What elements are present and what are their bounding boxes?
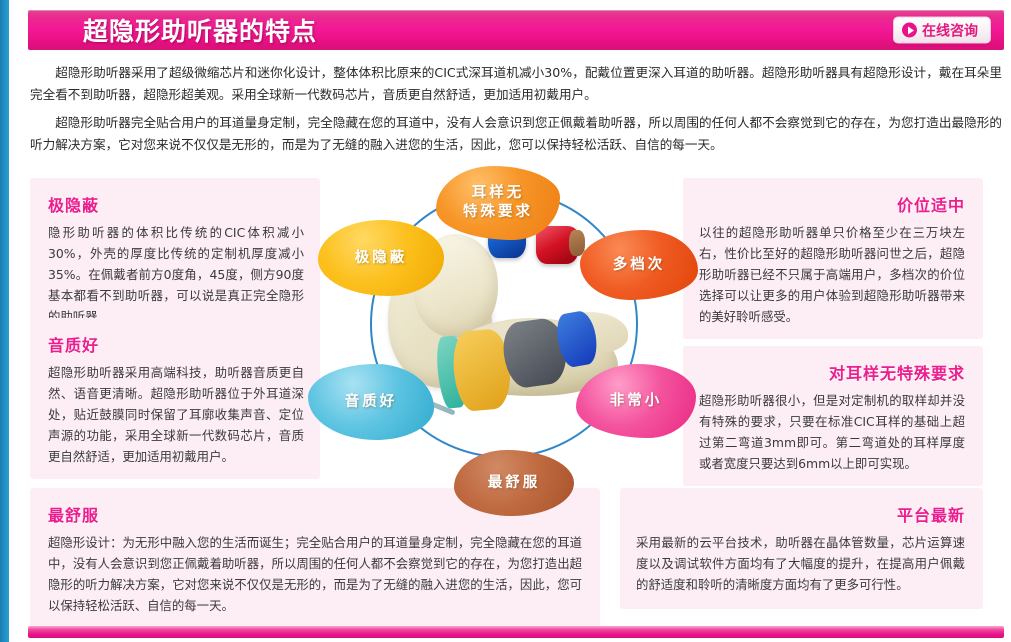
diagram-blob-ear-sample[interactable]: 耳样无 特殊要求 xyxy=(436,166,560,240)
page-footer-bar xyxy=(28,626,1004,638)
feature-card-jiawei-body: 以往的超隐形助听器单只价格至少在三万块左右，性价比至好的超隐形助听器问世之后，超… xyxy=(699,222,965,327)
diagram-blob-ear-sample-line2: 特殊要求 xyxy=(463,203,533,222)
online-consult-button[interactable]: 在线咨询 xyxy=(893,17,991,44)
play-circle-icon xyxy=(902,23,917,38)
feature-card-erayang-title: 对耳样无特殊要求 xyxy=(699,360,965,384)
diagram-blob-very-small-label: 非常小 xyxy=(610,392,663,411)
page-header-bar: 超隐形助听器的特点 在线咨询 xyxy=(28,10,1004,50)
intro-section: 超隐形助听器采用了超级微缩芯片和迷你化设计，整体体积比原来的CIC式深耳道机减小… xyxy=(30,62,1002,162)
diagram-blob-most-comfortable[interactable]: 最舒服 xyxy=(454,450,574,516)
feature-card-jiyinbi: 极隐蔽 隐形助听器的体积比传统的CIC体积减小30%，外壳的厚度比传统的定制机厚… xyxy=(30,178,320,339)
feature-card-erayang-body: 超隐形助听器很小，但是对定制机的取样却并没有特殊的要求，只要在标准CIC耳样的基… xyxy=(699,390,965,474)
feature-card-yinzhi-body: 超隐形助听器采用高端科技，助听器音质更自然、语音更清晰。超隐形助听器位于外耳道深… xyxy=(48,362,304,467)
diagram-blob-very-hidden-label: 极隐蔽 xyxy=(355,249,408,268)
diagram-blob-most-comfortable-label: 最舒服 xyxy=(488,474,541,493)
feature-wheel-diagram: 耳样无 特殊要求 多档次 非常小 最舒服 音质好 极隐蔽 xyxy=(318,168,693,508)
diagram-blob-very-small[interactable]: 非常小 xyxy=(576,364,696,438)
diagram-blob-good-sound-label: 音质好 xyxy=(345,393,398,412)
feature-card-yinzhi-title: 音质好 xyxy=(48,332,304,356)
online-consult-button-label: 在线咨询 xyxy=(922,20,978,40)
feature-card-erayang: 对耳样无特殊要求 超隐形助听器很小，但是对定制机的取样却并没有特殊的要求，只要在… xyxy=(683,346,983,486)
feature-card-shufu-body: 超隐形设计：为无形中融入您的生活而诞生；完全贴合用户的耳道量身定制，完全隐藏在您… xyxy=(48,532,582,616)
hearing-aid-device-red xyxy=(536,226,578,264)
page-root: 超隐形助听器的特点 在线咨询 超隐形助听器采用了超级微缩芯片和迷你化设计，整体体… xyxy=(0,0,1011,642)
intro-paragraph-2: 超隐形助听器完全贴合用户的耳道量身定制，完全隐藏在您的耳道中，没有人会意识到您正… xyxy=(30,112,1002,156)
diagram-blob-multi-tier-label: 多档次 xyxy=(613,256,666,275)
feature-card-yinzhi: 音质好 超隐形助听器采用高端科技，助听器音质更自然、语音更清晰。超隐形助听器位于… xyxy=(30,318,320,479)
diagram-blob-multi-tier[interactable]: 多档次 xyxy=(580,230,698,300)
intro-paragraph-1: 超隐形助听器采用了超级微缩芯片和迷你化设计，整体体积比原来的CIC式深耳道机减小… xyxy=(30,62,1002,106)
feature-card-pingtai-body: 采用最新的云平台技术，助听器在晶体管数量，芯片运算速度以及调试软件方面均有了大幅… xyxy=(636,532,965,595)
diagram-blob-ear-sample-line1: 耳样无 xyxy=(463,184,533,203)
feature-card-jiyinbi-title: 极隐蔽 xyxy=(48,192,304,216)
feature-card-jiawei-title: 价位适中 xyxy=(699,192,965,216)
diagram-blob-good-sound[interactable]: 音质好 xyxy=(308,364,434,440)
diagram-blob-very-hidden[interactable]: 极隐蔽 xyxy=(318,220,444,296)
feature-card-jiyinbi-body: 隐形助听器的体积比传统的CIC体积减小30%，外壳的厚度比传统的定制机厚度减小3… xyxy=(48,222,304,327)
features-content: 极隐蔽 隐形助听器的体积比传统的CIC体积减小30%，外壳的厚度比传统的定制机厚… xyxy=(0,168,1011,620)
page-title: 超隐形助听器的特点 xyxy=(83,12,317,48)
feature-card-jiawei: 价位适中 以往的超隐形助听器单只价格至少在三万块左右，性价比至好的超隐形助听器问… xyxy=(683,178,983,339)
